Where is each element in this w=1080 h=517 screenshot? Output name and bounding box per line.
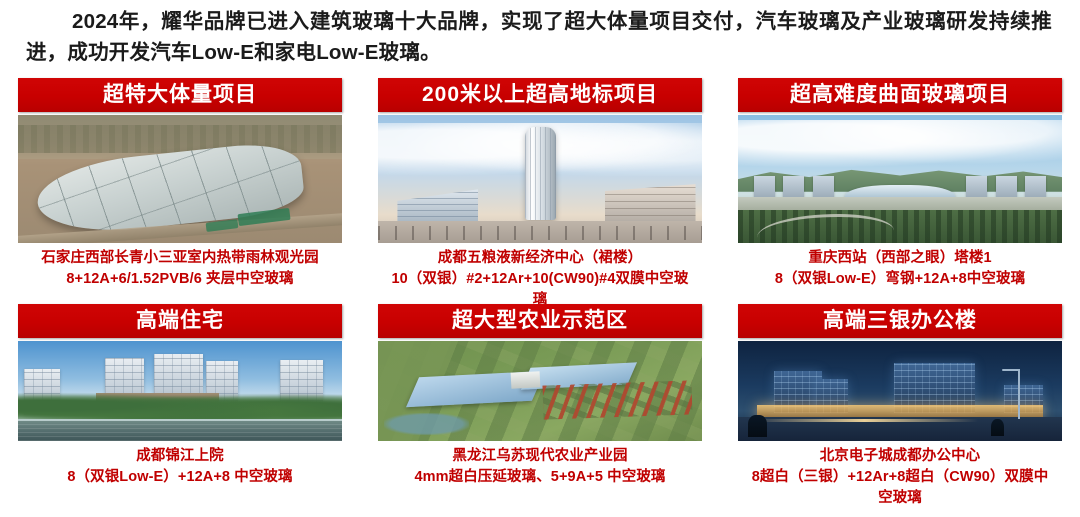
- card-caption-1-line2: 8+12A+6/1.52PVB/6 夹层中空玻璃: [18, 269, 342, 290]
- project-row-2: 高端住宅 成都锦江上院 8（双银Low-E）+12A+8 中空玻璃 超大型农业示…: [0, 304, 1080, 517]
- project-card-6[interactable]: 高端三银办公楼 北京电子城成都办公中心 8超白（三银）+12Ar+8超白（CW9…: [720, 304, 1080, 517]
- card-image-1: [18, 115, 342, 243]
- card-caption-3: 重庆西站（西部之眼）塔楼1 8（双银Low-E）弯钢+12A+8中空玻璃: [738, 248, 1062, 290]
- card-caption-4-line1: 成都锦江上院: [18, 446, 342, 467]
- card-caption-6-line2: 8超白（三银）+12Ar+8超白（CW90）双膜中: [738, 467, 1062, 488]
- card-caption-3-line2: 8（双银Low-E）弯钢+12A+8中空玻璃: [738, 269, 1062, 290]
- card-image-4: [18, 341, 342, 441]
- card-caption-6-line1: 北京电子城成都办公中心: [738, 446, 1062, 467]
- card-banner-2: 200米以上超高地标项目: [378, 78, 702, 112]
- project-grid: 超特大体量项目 石家庄西部长青小三亚室内热带雨林观光园 8+12A+6/1.52…: [0, 78, 1080, 517]
- card-banner-1: 超特大体量项目: [18, 78, 342, 112]
- card-banner-3: 超高难度曲面玻璃项目: [738, 78, 1062, 112]
- card-caption-5-line1: 黑龙江乌苏现代农业产业园: [378, 446, 702, 467]
- card-caption-4: 成都锦江上院 8（双银Low-E）+12A+8 中空玻璃: [18, 446, 342, 488]
- card-image-6: [738, 341, 1062, 441]
- card-image-2: [378, 115, 702, 243]
- card-caption-5-line2: 4mm超白压延玻璃、5+9A+5 中空玻璃: [378, 467, 702, 488]
- project-card-1[interactable]: 超特大体量项目 石家庄西部长青小三亚室内热带雨林观光园 8+12A+6/1.52…: [0, 78, 360, 304]
- card-image-5: [378, 341, 702, 441]
- card-banner-5: 超大型农业示范区: [378, 304, 702, 338]
- card-caption-4-line2: 8（双银Low-E）+12A+8 中空玻璃: [18, 467, 342, 488]
- card-caption-2-line2: 10（双银）#2+12Ar+10(CW90)#4双膜中空玻: [378, 269, 702, 290]
- project-card-4[interactable]: 高端住宅 成都锦江上院 8（双银Low-E）+12A+8 中空玻璃: [0, 304, 360, 517]
- card-caption-6-line3: 空玻璃: [738, 488, 1062, 509]
- project-card-2[interactable]: 200米以上超高地标项目 成都五粮液新经济中心（裙楼） 10（双银）#2+12A…: [360, 78, 720, 304]
- project-card-5[interactable]: 超大型农业示范区 黑龙江乌苏现代农业产业园 4mm超白压延玻璃、5+9A+5 中…: [360, 304, 720, 517]
- card-caption-1-line1: 石家庄西部长青小三亚室内热带雨林观光园: [18, 248, 342, 269]
- card-caption-2-line1: 成都五粮液新经济中心（裙楼）: [378, 248, 702, 269]
- card-banner-4: 高端住宅: [18, 304, 342, 338]
- card-banner-6: 高端三银办公楼: [738, 304, 1062, 338]
- card-caption-3-line1: 重庆西站（西部之眼）塔楼1: [738, 248, 1062, 269]
- card-caption-2: 成都五粮液新经济中心（裙楼） 10（双银）#2+12Ar+10(CW90)#4双…: [378, 248, 702, 311]
- card-caption-1: 石家庄西部长青小三亚室内热带雨林观光园 8+12A+6/1.52PVB/6 夹层…: [18, 248, 342, 290]
- card-caption-6: 北京电子城成都办公中心 8超白（三银）+12Ar+8超白（CW90）双膜中 空玻…: [738, 446, 1062, 509]
- project-card-3[interactable]: 超高难度曲面玻璃项目 重庆西站（西部之眼）塔楼1 8（双银Low-E）弯钢+12…: [720, 78, 1080, 304]
- project-row-1: 超特大体量项目 石家庄西部长青小三亚室内热带雨林观光园 8+12A+6/1.52…: [0, 78, 1080, 304]
- page-title: 2024年，耀华品牌已进入建筑玻璃十大品牌，实现了超大体量项目交付，汽车玻璃及产…: [0, 6, 1080, 68]
- card-image-3: [738, 115, 1062, 243]
- card-caption-5: 黑龙江乌苏现代农业产业园 4mm超白压延玻璃、5+9A+5 中空玻璃: [378, 446, 702, 488]
- slide-root: 2024年，耀华品牌已进入建筑玻璃十大品牌，实现了超大体量项目交付，汽车玻璃及产…: [0, 0, 1080, 517]
